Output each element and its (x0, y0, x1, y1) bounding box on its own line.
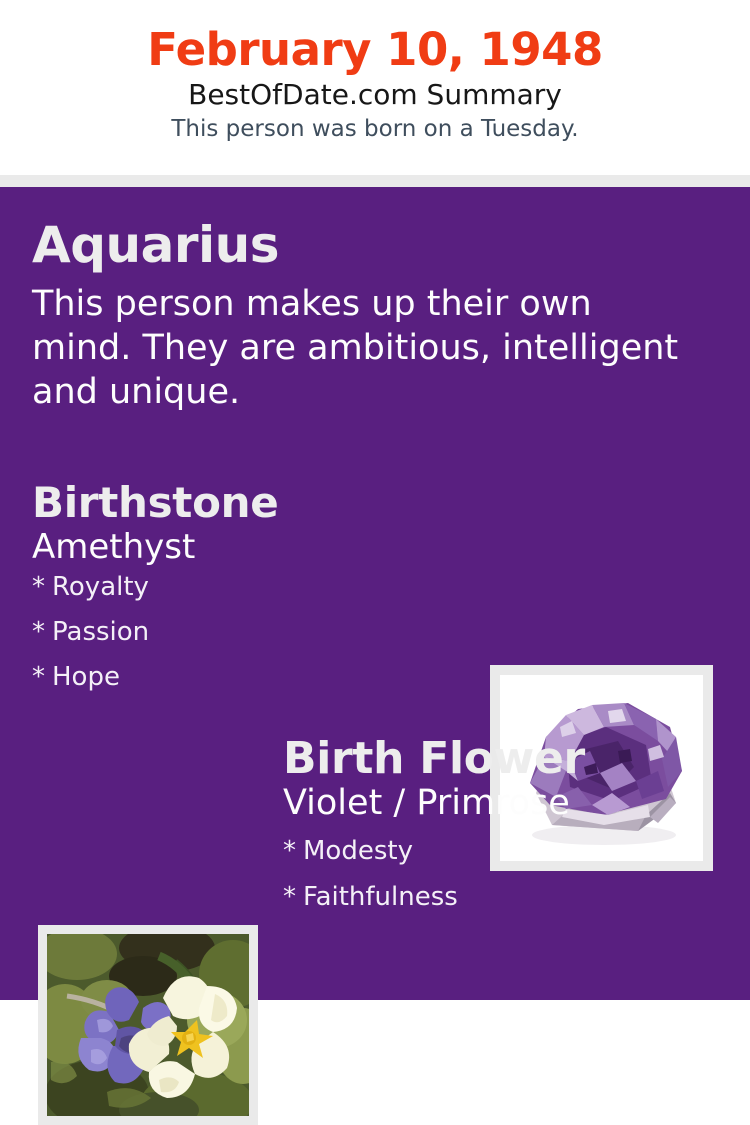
bullet-asterisk-icon: * (283, 838, 303, 864)
list-item: *Modesty (283, 838, 733, 884)
birthstone-section: Birthstone Amethyst *Royalty *Passion *H… (32, 482, 462, 709)
card-header: February 10, 1948 BestOfDate.com Summary… (0, 0, 750, 175)
list-item: *Passion (32, 619, 462, 664)
list-item: *Faithfulness (283, 884, 733, 930)
zodiac-description: This person makes up their own mind. The… (32, 270, 692, 414)
birthstone-trait-label: Passion (52, 617, 149, 647)
birthstone-heading: Birthstone (32, 482, 462, 525)
birth-weekday-note: This person was born on a Tuesday. (0, 111, 750, 142)
details-panel: Aquarius This person makes up their own … (0, 187, 750, 1000)
birth-flower-heading: Birth Flower (283, 737, 733, 782)
bullet-asterisk-icon: * (32, 619, 52, 645)
birth-flower-name: Violet / Primrose (283, 782, 733, 823)
list-item: *Royalty (32, 574, 462, 619)
violet-primrose-icon (47, 934, 249, 1116)
birth-flower-trait-label: Modesty (303, 836, 413, 866)
bullet-asterisk-icon: * (283, 884, 303, 910)
birthstone-name: Amethyst (32, 525, 462, 566)
bullet-asterisk-icon: * (32, 574, 52, 600)
list-item: *Hope (32, 664, 462, 709)
birthstone-trait-label: Hope (52, 662, 120, 692)
birth-flower-section: Birth Flower Violet / Primrose *Modesty … (283, 737, 733, 930)
site-subtitle: BestOfDate.com Summary (0, 73, 750, 111)
zodiac-sign-title: Aquarius (32, 220, 692, 270)
zodiac-section: Aquarius This person makes up their own … (32, 220, 692, 414)
header-divider (0, 175, 750, 187)
birthstone-trait-list: *Royalty *Passion *Hope (32, 566, 462, 709)
bullet-asterisk-icon: * (32, 664, 52, 690)
birth-flower-trait-label: Faithfulness (303, 882, 458, 912)
date-summary-card: February 10, 1948 BestOfDate.com Summary… (0, 0, 750, 1000)
flower-image-frame (38, 925, 258, 1125)
page-title: February 10, 1948 (0, 0, 750, 73)
birth-flower-trait-list: *Modesty *Faithfulness (283, 822, 733, 930)
birthstone-trait-label: Royalty (52, 572, 149, 602)
